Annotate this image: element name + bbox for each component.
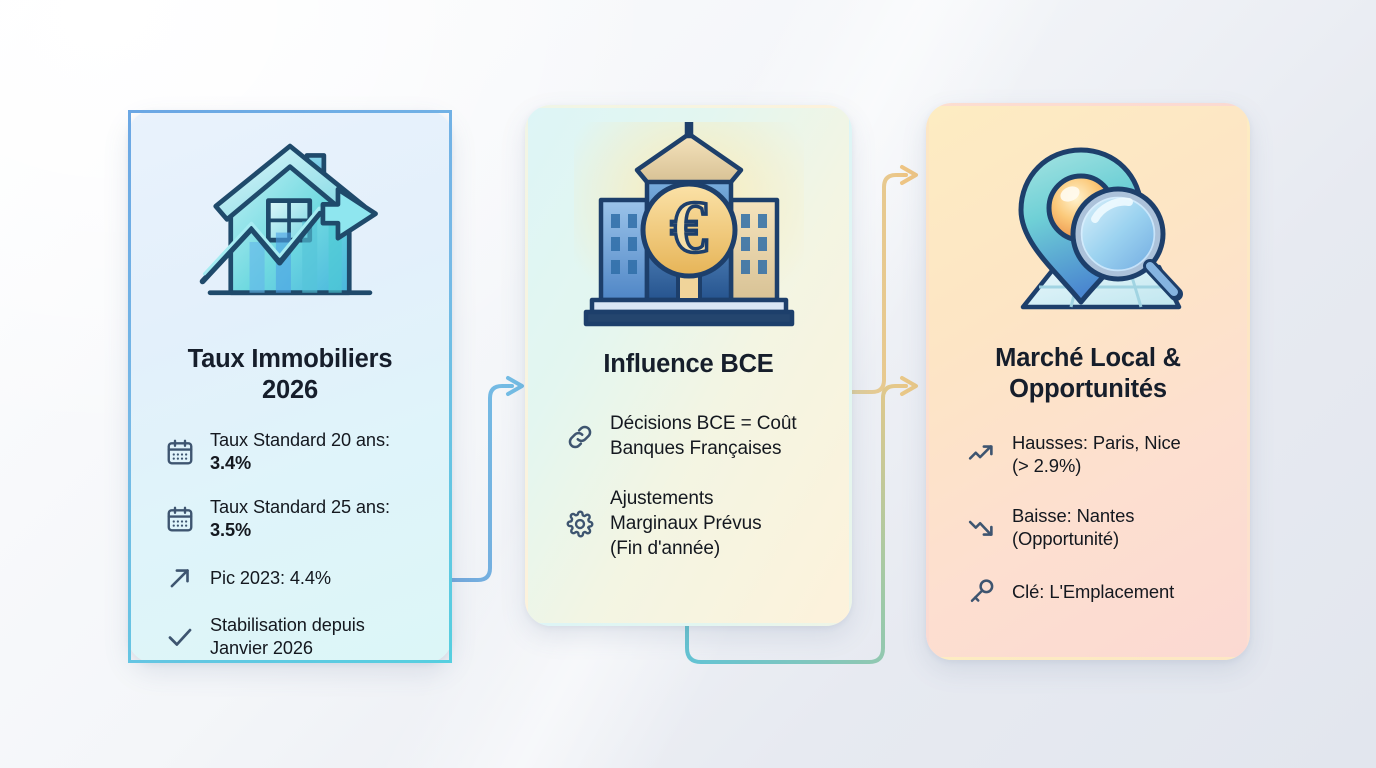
list-item-text: Clé: L'Emplacement [1012,580,1174,604]
infographic-stage: Taux Immobiliers 2026 Taux Standard 20 a… [0,0,1376,768]
list-item-text: Pic 2023: 4.4% [210,567,331,590]
list-item-text: Hausses: Paris, Nice (> 2.9%) [1012,431,1181,478]
card-influence-bce[interactable]: € Influence BCE Décisions BCE = Coût Ban… [525,105,852,626]
list-item-text: Ajustements Marginaux Prévus (Fin d'anné… [610,487,762,561]
list-item: Décisions BCE = Coût Banques Françaises [565,412,834,461]
list-bce: Décisions BCE = Coût Banques Françaises … [543,412,834,561]
list-item: Baisse: Nantes (Opportunité) [967,504,1233,551]
trend-up-icon [967,439,997,469]
list-item-text: Baisse: Nantes (Opportunité) [1012,504,1134,551]
list-item: Pic 2023: 4.4% [165,563,431,593]
gear-icon [565,509,595,539]
svg-text:€: € [670,187,707,269]
list-item: Stabilisation depuis Janvier 2026 [165,614,431,660]
map-pin-magnifier-icon [973,124,1203,339]
list-item: Ajustements Marginaux Prévus (Fin d'anné… [565,487,834,561]
list-item-text: Taux Standard 25 ans: 3.5% [210,496,431,542]
house-growth-chart-icon [175,131,405,340]
calendar-icon [165,504,195,534]
bank-euro-icon: € [574,122,804,337]
connector-ecb-to-market-top [852,167,916,392]
card-title-taux: Taux Immobiliers 2026 [157,344,423,406]
check-icon [165,622,195,652]
card-taux-immobiliers[interactable]: Taux Immobiliers 2026 Taux Standard 20 a… [128,110,452,663]
list-marche: Hausses: Paris, Nice (> 2.9%) Baisse: Na… [943,431,1233,607]
key-icon [967,577,997,607]
card-marche-local[interactable]: Marché Local & Opportunités Hausses: Par… [926,103,1250,660]
trend-down-icon [967,512,997,542]
list-item: Taux Standard 25 ans: 3.5% [165,496,431,542]
card-title-marche: Marché Local & Opportunités [955,343,1221,405]
list-item-text: Taux Standard 20 ans: 3.4% [210,429,431,475]
card-title-bce: Influence BCE [603,349,773,380]
list-item: Hausses: Paris, Nice (> 2.9%) [967,431,1233,478]
arrow-up-right-icon [165,563,195,593]
list-item: Clé: L'Emplacement [967,577,1233,607]
list-taux: Taux Standard 20 ans: 3.4% Taux Standard… [149,429,431,660]
calendar-icon [165,437,195,467]
list-item: Taux Standard 20 ans: 3.4% [165,429,431,475]
list-item-text: Stabilisation depuis Janvier 2026 [210,614,365,660]
list-item-text: Décisions BCE = Coût Banques Françaises [610,412,797,461]
link-icon [565,422,595,452]
connector-rates-to-ecb [452,378,522,580]
